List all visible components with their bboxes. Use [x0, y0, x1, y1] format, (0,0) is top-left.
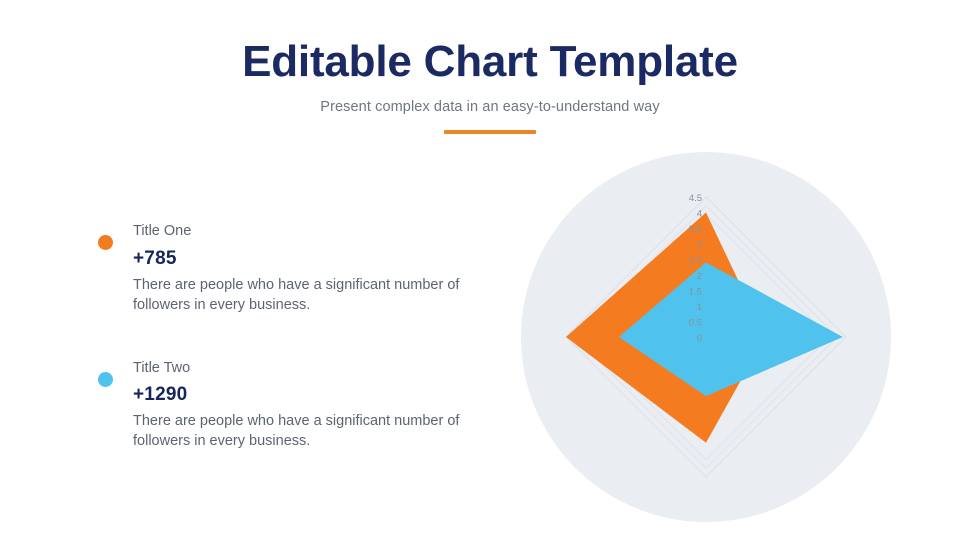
tick-label: 2 [697, 271, 702, 282]
tick-label: 2.5 [689, 255, 702, 266]
title-divider [444, 130, 536, 134]
stat-value: +785 [133, 248, 498, 270]
tick-label: 3 [697, 240, 702, 251]
page-subtitle: Present complex data in an easy-to-under… [0, 86, 980, 115]
stat-title: Title Two [133, 359, 498, 379]
orange-dot-icon [98, 235, 113, 250]
stat-description: There are people who have a significant … [133, 411, 483, 451]
stat-value: +1290 [133, 384, 498, 406]
tick-label: 4.5 [689, 193, 702, 204]
radar-chart: 4.543.532.521.510.50 [513, 142, 903, 542]
tick-label: 4 [697, 209, 702, 220]
page-title: Editable Chart Template [0, 0, 980, 86]
tick-label: 0.5 [689, 317, 702, 328]
stats-list: Title One +785 There are people who have… [98, 222, 498, 495]
stat-block-one: Title One +785 There are people who have… [98, 222, 498, 315]
stat-block-two: Title Two +1290 There are people who hav… [98, 359, 498, 452]
tick-label: 3.5 [689, 224, 702, 235]
stat-title: Title One [133, 222, 498, 242]
tick-label: 1.5 [689, 286, 702, 297]
header: Editable Chart Template Present complex … [0, 0, 980, 134]
radar-chart-svg: 4.543.532.521.510.50 [513, 142, 903, 542]
stat-description: There are people who have a significant … [133, 275, 483, 315]
tick-label: 0 [697, 333, 702, 344]
tick-label: 1 [697, 302, 702, 313]
blue-dot-icon [98, 372, 113, 387]
